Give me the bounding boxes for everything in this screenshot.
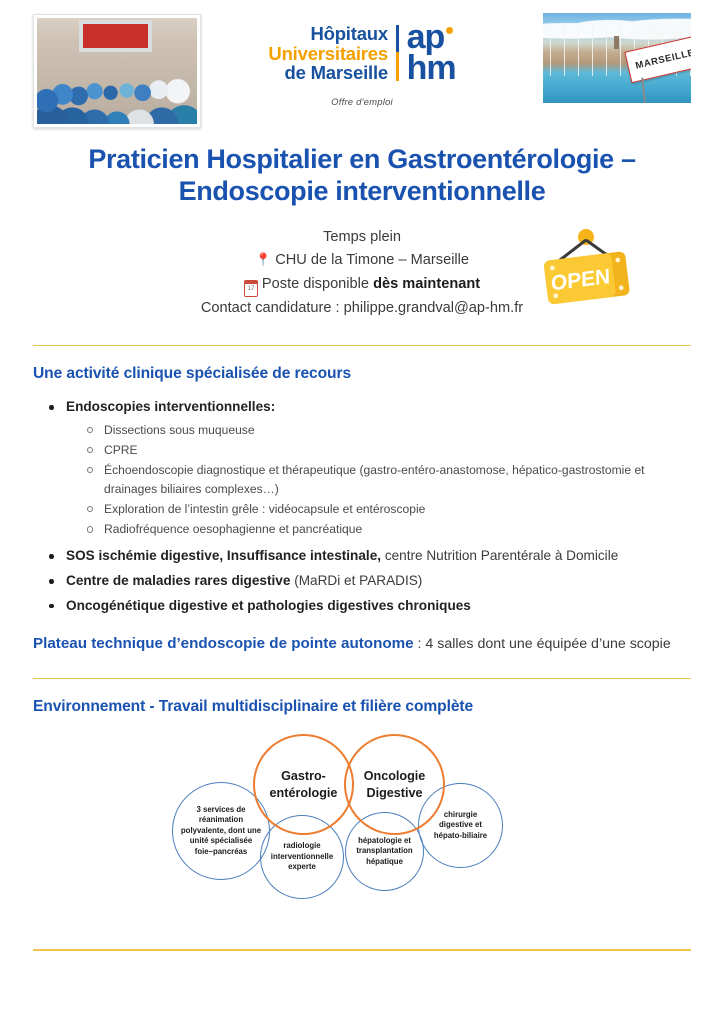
section-heading-activite: Une activité clinique spécialisée de rec… [33,365,691,383]
activity-list: Endoscopies interventionnelles: Dissecti… [0,397,724,616]
diagram-onco-line1: Oncologie [364,768,426,784]
location-pin-icon: 📍 [255,252,271,267]
diagram-circle-gastro: Gastro- entérologie [253,734,354,835]
open-sign-icon: OPEN [534,228,638,308]
list-item: Échoendoscopie diagnostique et thérapeut… [87,461,691,499]
plateau-technique-bold: Plateau technique d’endoscopie de pointe… [33,635,414,652]
bullet-suffix-sos: centre Nutrition Parentérale à Domicile [385,548,618,563]
environment-diagram: Gastro- entérologie Oncologie Digestive … [0,726,724,931]
bullet-suffix-endoscopies: : [271,399,276,414]
diagram-radiologie-text: radiologie interventionnelle experte [261,841,343,873]
diagram-hepatologie-text: hépatologie et transplantation hépatique [346,836,423,868]
aphm-logo-wordmark: Hôpitaux Universitaires de Marseille [268,24,388,82]
diagram-onco-line2: Digestive [364,785,426,801]
diagram-circle-oncologie: Oncologie Digestive [344,734,445,835]
endoscopies-sublist: Dissections sous muqueuse CPRE Échoendos… [66,421,691,540]
job-meta: Temps plein 📍 CHU de la Timone – Marseil… [0,226,724,321]
open-sign-graphic: OPEN [534,228,638,308]
list-item-oncogenetique: Oncogénétique digestive et pathologies d… [49,596,691,617]
list-item-maladies-rares: Centre de maladies rares digestive (MaRD… [49,571,691,592]
logo-line-hopitaux: Hôpitaux [268,24,388,43]
section-divider-3 [33,949,691,950]
bullet-label-maladies-rares: Centre de maladies rares digestive [66,573,294,588]
document-header: MARSEILLE Hôpitaux Universitaires de Mar… [0,0,724,128]
list-item: Dissections sous muqueuse [87,421,691,440]
bullet-suffix-maladies-rares: (MaRDi et PARADIS) [294,573,422,588]
list-item-endoscopies: Endoscopies interventionnelles: Dissecti… [49,397,691,539]
meta-availability-prefix: Poste disponible [262,276,373,292]
section-divider-1 [33,345,691,346]
list-item: Exploration de l’intestin grêle : vidéoc… [87,500,691,519]
diagram-gastro-line1: Gastro- [270,768,338,784]
logo-hm-text: hm [407,53,456,84]
aphm-logo: Hôpitaux Universitaires de Marseille ap … [268,22,455,85]
aphm-logo-block: Hôpitaux Universitaires de Marseille ap … [0,22,724,108]
offre-emploi-label: Offre d'emploi [0,97,724,108]
logo-dot-icon [446,27,453,34]
section-heading-environnement: Environnement - Travail multidisciplinai… [33,698,691,716]
list-item: CPRE [87,441,691,460]
aphm-monogram: ap hm [407,22,456,85]
meta-availability-strong: dès maintenant [373,276,480,292]
bullet-label-endoscopies: Endoscopies interventionnelles [66,399,271,414]
bullet-label-oncogenetique: Oncogénétique digestive et pathologies d… [66,598,471,613]
logo-line-marseille: de Marseille [268,63,388,82]
logo-line-universitaires: Universitaires [268,44,388,63]
list-item-sos-ischemie: SOS ischémie digestive, Insuffisance int… [49,546,691,567]
diagram-gastro-line2: entérologie [270,785,338,801]
list-item: Radiofréquence oesophagienne et pancréat… [87,520,691,539]
plateau-technique-rest: : 4 salles dont une équipée d’une scopie [414,636,671,652]
logo-divider [396,25,399,81]
plateau-technique-paragraph: Plateau technique d’endoscopie de pointe… [33,632,691,656]
diagram-reanimation-text: 3 services de réanimation polyvalente, d… [173,805,269,858]
page-title: Praticien Hospitalier en Gastroentérolog… [46,144,678,208]
meta-location-text: CHU de la Timone – Marseille [275,252,469,268]
calendar-icon: 17 [244,280,258,297]
section-divider-2 [33,678,691,679]
bullet-label-sos: SOS ischémie digestive, Insuffisance int… [66,548,385,563]
